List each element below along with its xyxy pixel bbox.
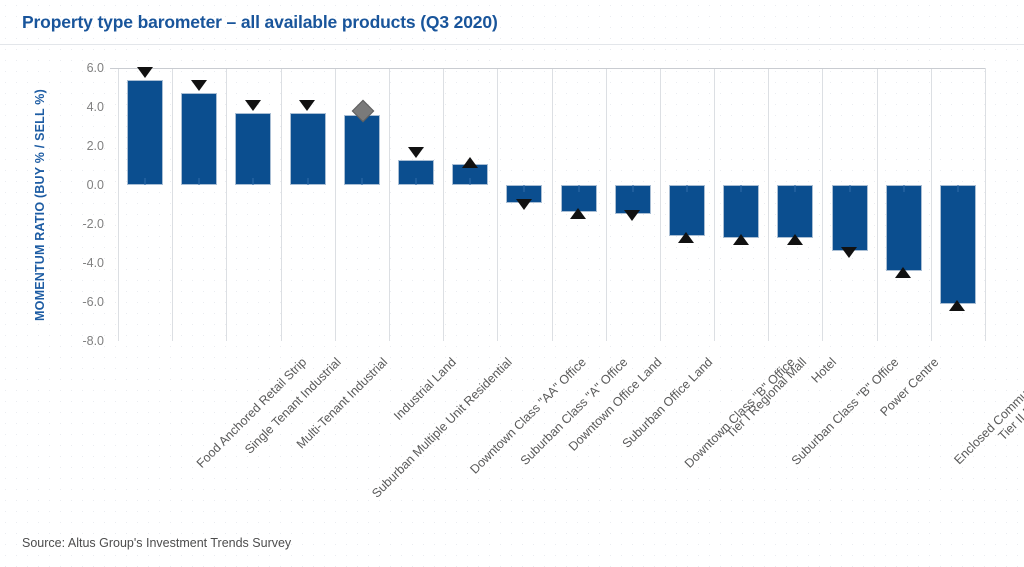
bar-baseline-stub — [903, 185, 905, 192]
bar[interactable] — [181, 93, 217, 185]
y-axis-title: MOMENTUM RATIO (BUY % / SELL %) — [33, 89, 47, 321]
bar-baseline-stub — [307, 178, 309, 185]
bar-baseline-stub — [957, 185, 959, 192]
bar-baseline-stub — [144, 178, 146, 185]
gridline — [497, 68, 498, 341]
page-title: Property type barometer – all available … — [22, 12, 498, 33]
gridline — [606, 68, 607, 341]
bar[interactable] — [344, 115, 380, 185]
bar[interactable] — [127, 80, 163, 185]
x-axis-category-label: Suburban Office Land — [619, 355, 715, 451]
bar[interactable] — [940, 185, 976, 304]
gridline — [443, 68, 444, 341]
bar[interactable] — [886, 185, 922, 271]
bar-baseline-stub — [252, 178, 254, 185]
bar-baseline-stub — [198, 178, 200, 185]
bar[interactable] — [832, 185, 868, 251]
gridline — [822, 68, 823, 341]
y-axis-tick-label: 2.0 — [64, 139, 104, 153]
title-divider — [0, 44, 1024, 45]
source-note: Source: Altus Group's Investment Trends … — [22, 536, 291, 550]
gridline — [714, 68, 715, 341]
y-axis-tick-label: -2.0 — [64, 217, 104, 231]
bar-baseline-stub — [686, 185, 688, 192]
bar-baseline-stub — [578, 185, 580, 192]
y-axis-tick-label: -8.0 — [64, 334, 104, 348]
gridline — [281, 68, 282, 341]
y-axis-tick-label: -6.0 — [64, 295, 104, 309]
gridline — [172, 68, 173, 341]
trend-marker-down-icon — [841, 247, 857, 258]
x-axis-category-label: Hotel — [809, 355, 840, 386]
gridline — [768, 68, 769, 341]
gridline — [660, 68, 661, 341]
gridline — [335, 68, 336, 341]
y-axis-tick-label: 4.0 — [64, 100, 104, 114]
bar-baseline-stub — [632, 185, 634, 192]
chart-plot-area: MOMENTUM RATIO (BUY % / SELL %) 6.04.02.… — [118, 68, 985, 341]
trend-marker-down-icon — [624, 210, 640, 221]
bar[interactable] — [290, 113, 326, 185]
bar-baseline-stub — [361, 178, 363, 185]
trend-marker-up-icon — [895, 267, 911, 278]
bar[interactable] — [669, 185, 705, 236]
trend-marker-down-icon — [299, 100, 315, 111]
trend-marker-down-icon — [191, 80, 207, 91]
gridline — [552, 68, 553, 341]
trend-marker-up-icon — [733, 234, 749, 245]
trend-marker-down-icon — [516, 199, 532, 210]
gridline — [118, 68, 119, 341]
trend-marker-up-icon — [787, 234, 803, 245]
bar-baseline-stub — [740, 185, 742, 192]
trend-marker-down-icon — [137, 67, 153, 78]
bar-baseline-stub — [469, 178, 471, 185]
bar[interactable] — [777, 185, 813, 238]
zero-baseline — [110, 68, 985, 69]
y-axis-tick-label: 6.0 — [64, 61, 104, 75]
trend-marker-up-icon — [678, 232, 694, 243]
gridline — [226, 68, 227, 341]
gridline — [931, 68, 932, 341]
y-axis-tick-label: -4.0 — [64, 256, 104, 270]
bar[interactable] — [235, 113, 271, 185]
trend-marker-down-icon — [245, 100, 261, 111]
trend-marker-down-icon — [408, 147, 424, 158]
trend-marker-up-icon — [570, 208, 586, 219]
y-axis-tick-label: 0.0 — [64, 178, 104, 192]
trend-marker-up-icon — [462, 157, 478, 168]
bar-baseline-stub — [849, 185, 851, 192]
bar-baseline-stub — [415, 178, 417, 185]
gridline — [877, 68, 878, 341]
gridline — [985, 68, 986, 341]
bar-baseline-stub — [794, 185, 796, 192]
trend-marker-up-icon — [949, 300, 965, 311]
bar[interactable] — [723, 185, 759, 238]
x-axis-category-label: Enclosed Community Mall — [951, 355, 1024, 467]
gridline — [389, 68, 390, 341]
x-axis-category-label: Tier I Regional Mall — [723, 355, 809, 441]
bar-baseline-stub — [523, 185, 525, 192]
x-axis-category-label: Multi-Tenant Industrial — [294, 355, 390, 451]
